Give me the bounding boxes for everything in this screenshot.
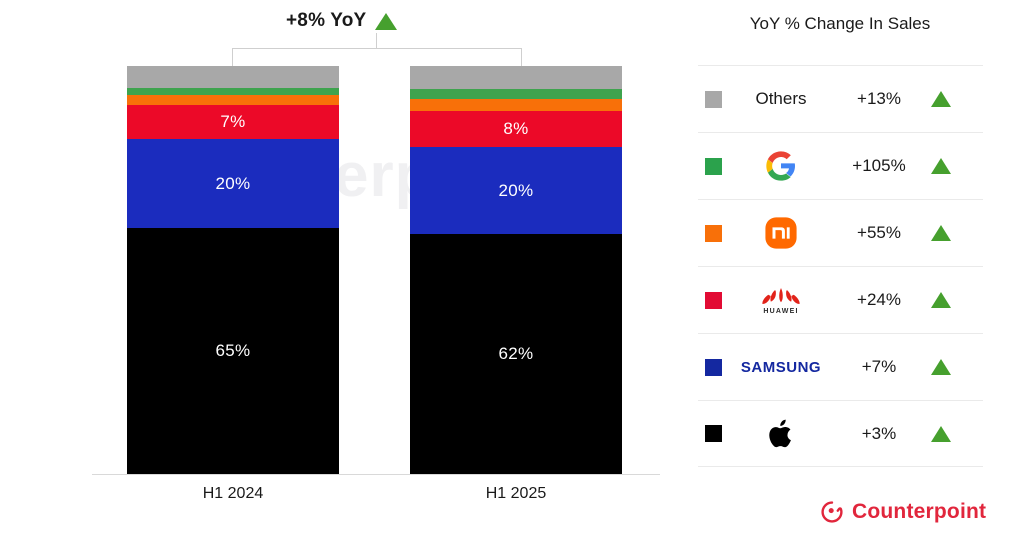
segment-value-label: 7% xyxy=(220,112,245,132)
bar-segment-others[interactable] xyxy=(410,66,622,89)
huawei-mark: HUAWEI xyxy=(758,285,804,315)
bar-h1-2024[interactable]: 7%20%65% xyxy=(127,66,339,474)
bar-segment-samsung[interactable]: 20% xyxy=(410,147,622,234)
bar-segment-apple[interactable]: 62% xyxy=(410,234,622,474)
triangle-up-icon xyxy=(931,292,951,308)
bar-segment-google[interactable] xyxy=(410,89,622,99)
bar-segment-xiaomi[interactable] xyxy=(127,95,339,105)
legend-color-swatch xyxy=(705,225,722,242)
bar-segment-others[interactable] xyxy=(127,66,339,88)
legend-trend-arrow xyxy=(918,292,964,308)
brand-name-text: HUAWEI xyxy=(763,308,798,315)
total-yoy-label: +8% YoY xyxy=(286,10,366,32)
segment-value-label: 20% xyxy=(499,181,534,201)
legend-change-value: +105% xyxy=(840,156,918,176)
segment-value-label: 20% xyxy=(216,174,251,194)
triangle-up-icon xyxy=(931,426,951,442)
bracket-stem xyxy=(376,33,377,49)
legend-color-swatch xyxy=(705,359,722,376)
legend-row[interactable]: HUAWEI+24% xyxy=(698,266,983,333)
legend-trend-arrow xyxy=(918,91,964,107)
total-yoy-callout: +8% YoY xyxy=(286,10,397,32)
legend-row[interactable]: Others+13% xyxy=(698,65,983,132)
counterpoint-logo: Counterpoint xyxy=(820,500,986,524)
bar-segment-huawei[interactable]: 7% xyxy=(127,105,339,139)
legend-panel: YoY % Change In Sales Others+13%+105%+55… xyxy=(690,0,1024,542)
huawei-logo-icon: HUAWEI xyxy=(722,277,840,323)
legend-change-value: +24% xyxy=(840,290,918,310)
legend-color-swatch xyxy=(705,91,722,108)
legend-row-list: Others+13%+105%+55%HUAWEI+24%SAMSUNG+7%+… xyxy=(698,65,983,467)
legend-row[interactable]: +55% xyxy=(698,199,983,266)
legend-trend-arrow xyxy=(918,359,964,375)
legend-row[interactable]: +105% xyxy=(698,132,983,199)
bar-segment-google[interactable] xyxy=(127,88,339,95)
brand-name-text: Others xyxy=(755,89,806,109)
x-tick-label-2024: H1 2024 xyxy=(127,485,339,503)
legend-change-value: +3% xyxy=(840,424,918,444)
legend-change-value: +55% xyxy=(840,223,918,243)
legend-title: YoY % Change In Sales xyxy=(690,14,990,34)
segment-value-label: 8% xyxy=(503,119,528,139)
xiaomi-logo-icon xyxy=(722,210,840,256)
triangle-up-icon xyxy=(931,91,951,107)
triangle-up-icon xyxy=(931,158,951,174)
brand-name-text: SAMSUNG xyxy=(741,359,821,376)
bar-segment-xiaomi[interactable] xyxy=(410,99,622,111)
bar-segment-huawei[interactable]: 8% xyxy=(410,111,622,147)
apple-logo-icon xyxy=(722,411,840,457)
legend-change-value: +7% xyxy=(840,357,918,377)
segment-value-label: 65% xyxy=(216,341,251,361)
legend-row[interactable]: +3% xyxy=(698,400,983,467)
segment-value-label: 62% xyxy=(499,344,534,364)
legend-change-value: +13% xyxy=(840,89,918,109)
comparison-bracket xyxy=(232,48,522,66)
brand-label-others: Others xyxy=(722,76,840,122)
legend-trend-arrow xyxy=(918,158,964,174)
legend-trend-arrow xyxy=(918,225,964,241)
google-logo-icon xyxy=(722,143,840,189)
bar-h1-2025[interactable]: 8%20%62% xyxy=(410,66,622,474)
samsung-logo-icon: SAMSUNG xyxy=(722,344,840,390)
triangle-up-icon xyxy=(931,225,951,241)
legend-color-swatch xyxy=(705,292,722,309)
counterpoint-mark-icon xyxy=(820,500,844,524)
legend-row[interactable]: SAMSUNG+7% xyxy=(698,333,983,400)
triangle-up-icon xyxy=(375,13,397,30)
triangle-up-icon xyxy=(931,359,951,375)
x-tick-label-2025: H1 2025 xyxy=(410,485,622,503)
chart-panel: Counterpoint +8% YoY 7%20%65% 8%20%62% H… xyxy=(0,0,690,542)
bar-segment-samsung[interactable]: 20% xyxy=(127,139,339,228)
counterpoint-logo-text: Counterpoint xyxy=(852,500,986,524)
legend-color-swatch xyxy=(705,158,722,175)
bar-segment-apple[interactable]: 65% xyxy=(127,228,339,474)
legend-color-swatch xyxy=(705,425,722,442)
x-axis-line xyxy=(92,474,660,475)
legend-trend-arrow xyxy=(918,426,964,442)
